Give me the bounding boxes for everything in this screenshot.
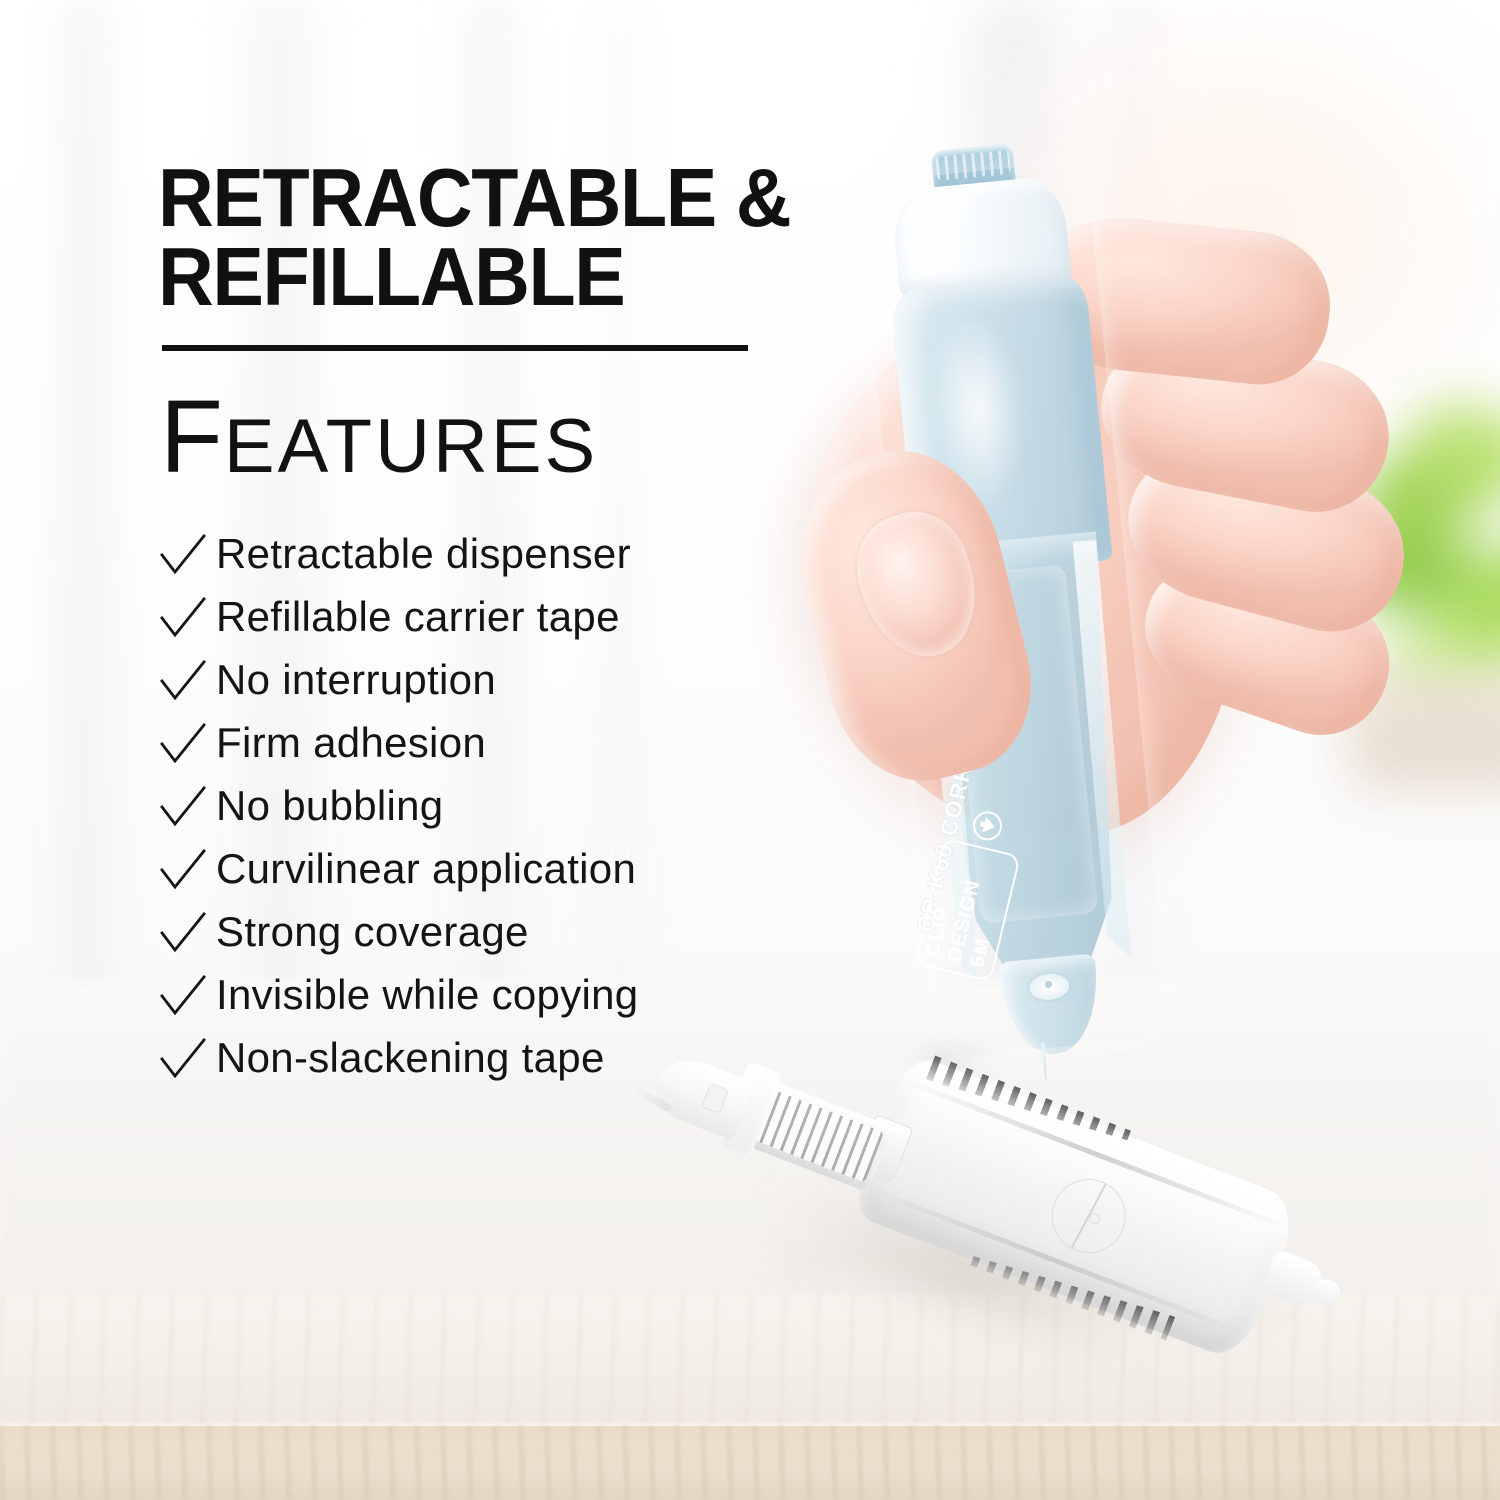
feature-label: No interruption <box>216 656 496 704</box>
feature-label: Curvilinear application <box>216 845 636 893</box>
feature-list-item: Curvilinear application <box>160 839 820 902</box>
feature-label: Firm adhesion <box>216 719 486 767</box>
features-heading-rest: EATURES <box>224 404 598 489</box>
applicator-tip-housing <box>999 953 1104 1058</box>
feature-label: No bubbling <box>216 782 443 830</box>
check-mark-icon <box>160 1037 216 1081</box>
check-mark-icon <box>160 659 216 703</box>
feature-label: Invisible while copying <box>216 971 638 1019</box>
check-mark-icon <box>160 533 216 577</box>
features-heading: FEATURES <box>160 385 598 488</box>
check-mark-icon <box>160 848 216 892</box>
check-mark-icon <box>160 785 216 829</box>
feature-label: Refillable carrier tape <box>216 593 620 641</box>
title-underline-rule <box>162 345 748 351</box>
feature-list-item: Firm adhesion <box>160 713 820 776</box>
check-mark-icon <box>160 722 216 766</box>
hand-holding-correction-tape: CR-K60 CORRECTION TAPE CLIP DESIGN 6M <box>770 120 1470 1080</box>
feature-label: Strong coverage <box>216 908 529 956</box>
feature-label: Retractable dispenser <box>216 530 631 578</box>
down-arrow-icon <box>970 808 1005 843</box>
features-list: Retractable dispenserRefillable carrier … <box>160 524 820 1091</box>
feature-label: Non-slackening tape <box>216 1034 605 1082</box>
feature-list-item: No interruption <box>160 650 820 713</box>
check-mark-icon <box>160 596 216 640</box>
feature-list-item: Strong coverage <box>160 902 820 965</box>
feature-list-item: Refillable carrier tape <box>160 587 820 650</box>
feature-list-item: Retractable dispenser <box>160 524 820 587</box>
features-heading-initial: F <box>160 379 224 494</box>
marketing-text-panel: RETRACTABLE & REFILLABLE FEATURES Retrac… <box>0 0 840 1200</box>
check-mark-icon <box>160 974 216 1018</box>
check-mark-icon <box>160 911 216 955</box>
feature-list-item: No bubbling <box>160 776 820 839</box>
